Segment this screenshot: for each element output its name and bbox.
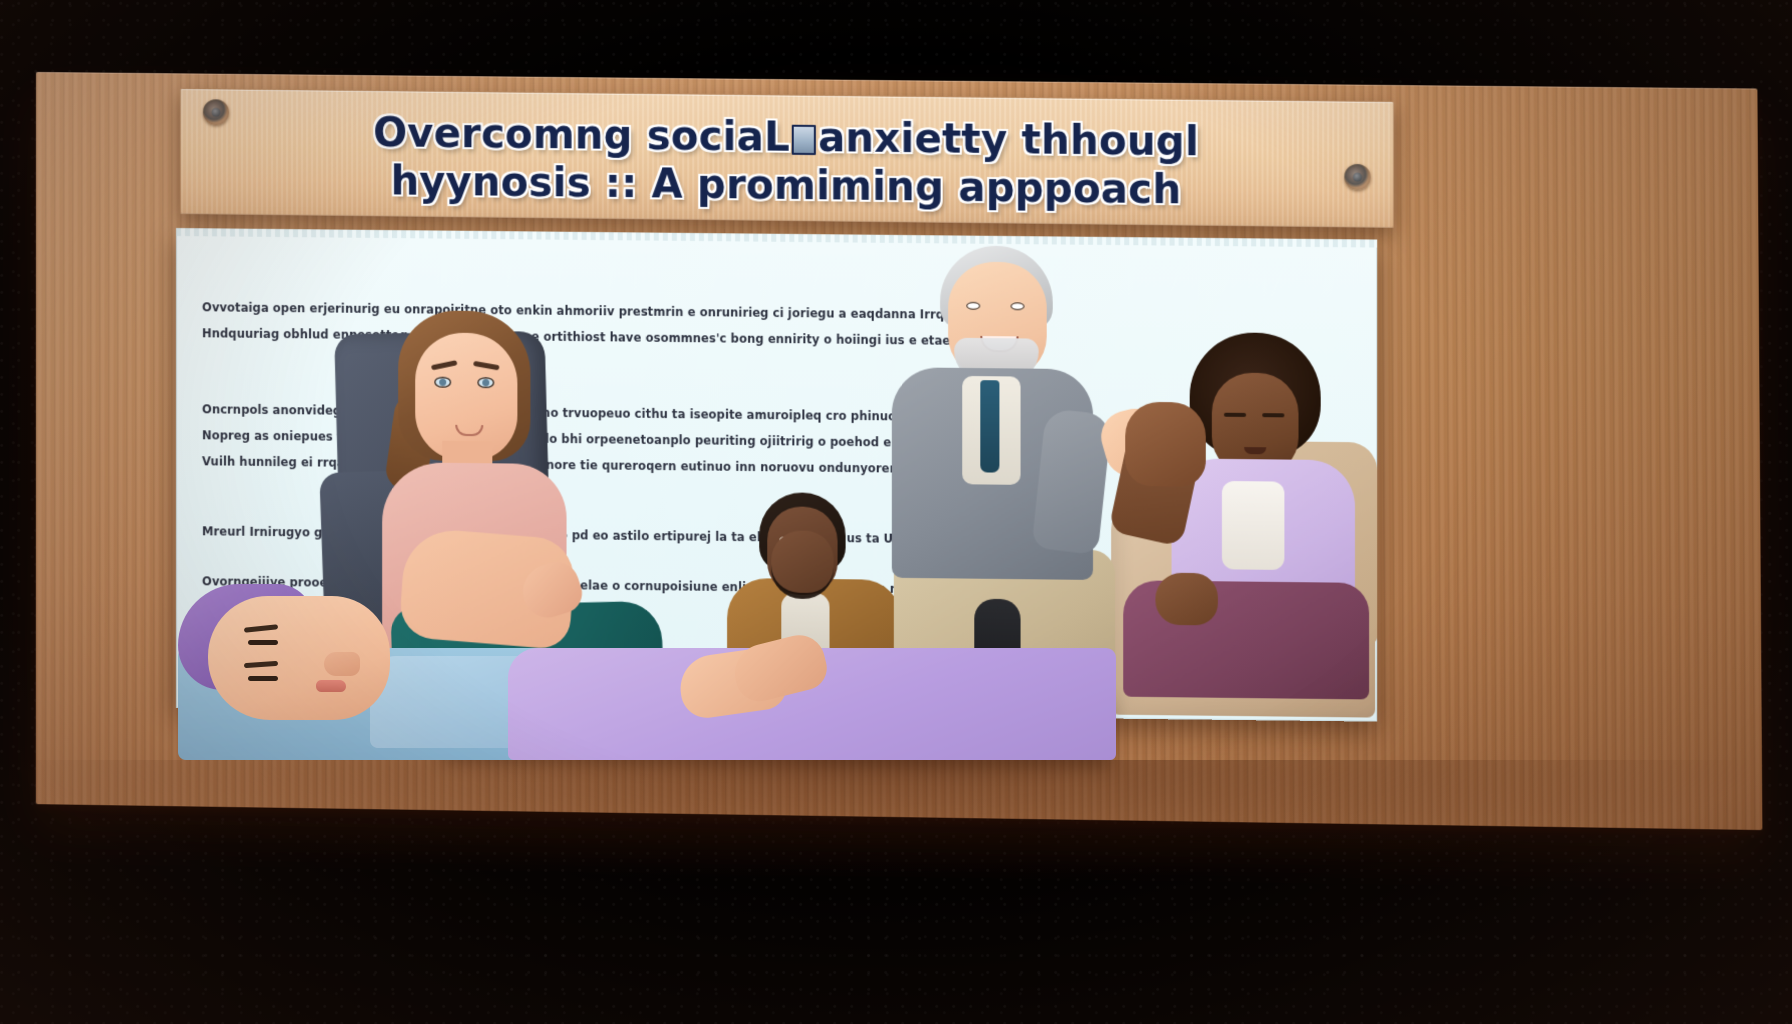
illustration-woman3-top bbox=[1222, 481, 1284, 570]
illustration-nose bbox=[324, 652, 360, 676]
illustration-eyebrow bbox=[431, 360, 458, 370]
illustration-eyebrow bbox=[473, 361, 500, 371]
illustration-reclining-face bbox=[208, 596, 390, 720]
illustration-therapist-tie bbox=[980, 380, 999, 472]
poster-title: Overcomng sociaLanxietty thhougl hyynosi… bbox=[181, 107, 1393, 217]
illustration-eyebrow bbox=[244, 624, 278, 633]
illustration-mouth bbox=[1244, 447, 1266, 454]
illustration-eye-closed bbox=[1262, 413, 1284, 417]
illustration-eye-closed bbox=[1224, 413, 1246, 417]
illustration-eye-closed bbox=[248, 676, 278, 681]
illustration-eyebrow bbox=[244, 661, 278, 668]
illustration-eye bbox=[434, 377, 451, 388]
screenshot-canvas: Overcomng sociaLanxietty thhougl hyynosi… bbox=[0, 0, 1792, 1024]
title-line-1-part-2: anxietty thhougl bbox=[818, 115, 1199, 165]
title-glyph-block-icon bbox=[792, 125, 816, 155]
title-line-1-part-1: Overcomng sociaL bbox=[373, 110, 790, 161]
illustration-lips bbox=[316, 680, 346, 692]
title-sign: Overcomng sociaLanxietty thhougl hyynosi… bbox=[180, 88, 1394, 228]
illustration-mouth bbox=[455, 425, 483, 436]
illustration-woman3-palm bbox=[1125, 402, 1206, 487]
illustration-eye-closed bbox=[248, 640, 278, 645]
illustration-eye bbox=[477, 377, 494, 388]
illustration-woman3-hand bbox=[1155, 573, 1217, 626]
illustration-eye bbox=[966, 302, 980, 310]
illustration-reclining-subject bbox=[178, 560, 1112, 760]
illustration-eye bbox=[1010, 302, 1024, 310]
